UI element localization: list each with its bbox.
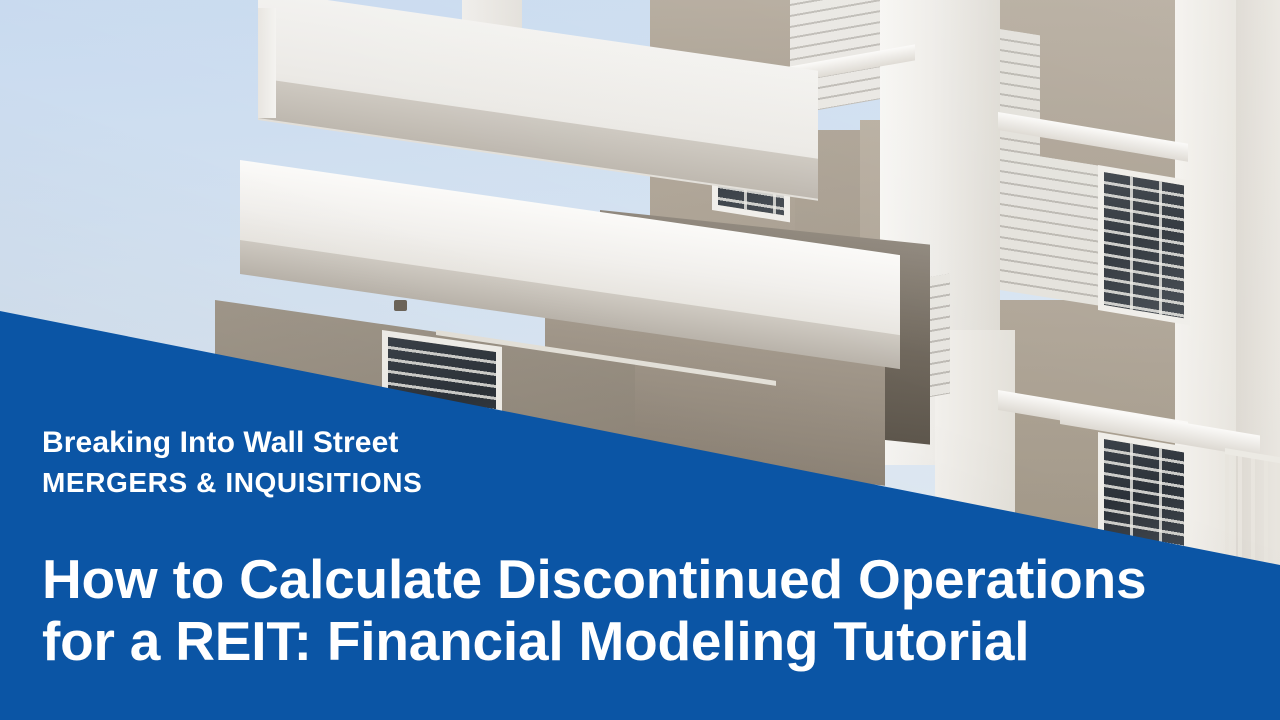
building-roof-edge-left — [258, 8, 276, 118]
brand-name-primary: Breaking Into Wall Street — [42, 428, 422, 458]
brand-lockup: Breaking Into Wall Street MERGERS & INQU… — [42, 428, 422, 497]
headline-line-1: How to Calculate Discontinued Operations — [42, 548, 1146, 610]
brand-name-secondary: MERGERS & INQUISITIONS — [42, 469, 422, 497]
ceiling-light-fixture — [394, 300, 407, 311]
headline-line-2: for a REIT: Financial Modeling Tutorial — [42, 610, 1146, 672]
balcony-railing-far — [1225, 450, 1280, 570]
siding-panel-4 — [1000, 150, 1110, 307]
thumbnail-headline: How to Calculate Discontinued Operations… — [42, 548, 1146, 672]
video-thumbnail: Breaking Into Wall Street MERGERS & INQU… — [0, 0, 1280, 720]
window-upper-right — [1098, 165, 1190, 325]
window-grille-vertical — [1104, 172, 1184, 318]
